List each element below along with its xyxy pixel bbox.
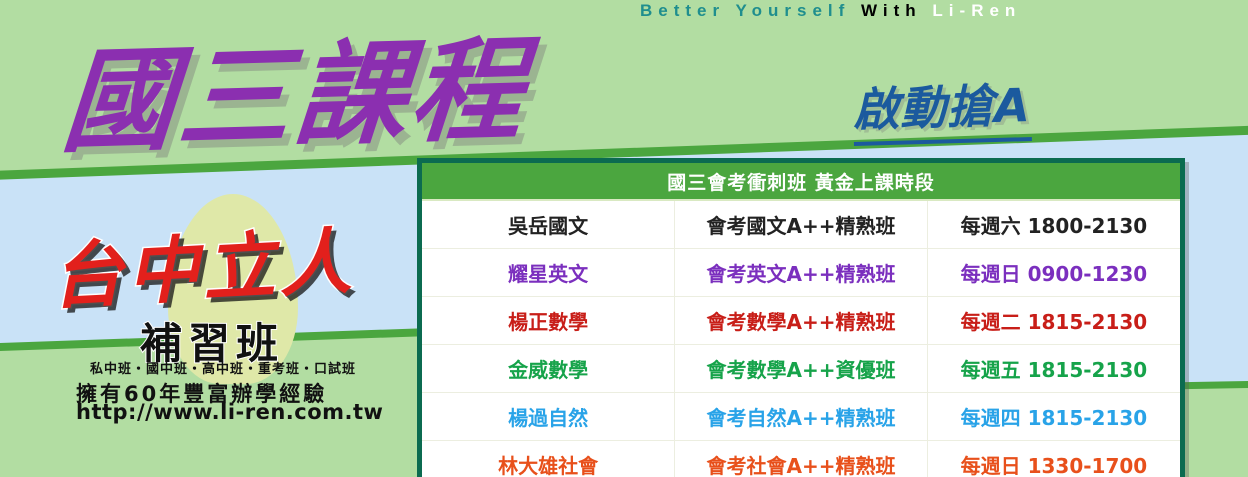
cell-teacher: 楊正數學 xyxy=(422,297,675,345)
logo-website-url: http://www.li-ren.com.tw xyxy=(76,400,383,424)
schedule-table-body: 吳岳國文會考國文A++精熟班每週六 1800-2130耀星英文會考英文A++精熟… xyxy=(422,200,1180,477)
table-row: 金威數學會考數學A++資優班每週五 1815-2130 xyxy=(422,345,1180,393)
cell-teacher: 金威數學 xyxy=(422,345,675,393)
page-subtitle: 啟動搶A xyxy=(852,69,1032,146)
promo-banner: Better Yourself With Li-Ren 國三課程 啟動搶A 台中… xyxy=(0,0,1248,477)
cell-course: 會考數學A++資優班 xyxy=(675,345,928,393)
table-row: 吳岳國文會考國文A++精熟班每週六 1800-2130 xyxy=(422,200,1180,249)
tagline-part2: With xyxy=(861,1,922,20)
cell-teacher: 楊過自然 xyxy=(422,393,675,441)
logo-brand-name: 台中立人 xyxy=(48,202,357,323)
tagline-part1: Better Yourself xyxy=(640,1,861,20)
table-row: 林大雄社會會考社會A++精熟班每週日 1330-1700 xyxy=(422,441,1180,477)
schedule-table-container: 國三會考衝刺班 黃金上課時段 吳岳國文會考國文A++精熟班每週六 1800-21… xyxy=(417,158,1185,477)
cell-course: 會考數學A++精熟班 xyxy=(675,297,928,345)
cell-time: 每週日 1330-1700 xyxy=(927,441,1180,477)
logo-class-types: 私中班・國中班・高中班・重考班・口試班 xyxy=(90,358,356,377)
cell-time: 每週二 1815-2130 xyxy=(927,297,1180,345)
schedule-table-title: 國三會考衝刺班 黃金上課時段 xyxy=(422,163,1180,200)
tagline-part3: Li-Ren xyxy=(922,1,1022,20)
cell-course: 會考社會A++精熟班 xyxy=(675,441,928,477)
cell-teacher: 耀星英文 xyxy=(422,249,675,297)
cell-teacher: 吳岳國文 xyxy=(422,200,675,249)
cell-teacher: 林大雄社會 xyxy=(422,441,675,477)
table-row: 楊過自然會考自然A++精熟班每週四 1815-2130 xyxy=(422,393,1180,441)
cell-time: 每週日 0900-1230 xyxy=(927,249,1180,297)
cell-time: 每週六 1800-2130 xyxy=(927,200,1180,249)
cell-time: 每週五 1815-2130 xyxy=(927,345,1180,393)
cell-course: 會考國文A++精熟班 xyxy=(675,200,928,249)
table-header-row: 國三會考衝刺班 黃金上課時段 xyxy=(422,163,1180,200)
table-row: 耀星英文會考英文A++精熟班每週日 0900-1230 xyxy=(422,249,1180,297)
cell-course: 會考自然A++精熟班 xyxy=(675,393,928,441)
cell-time: 每週四 1815-2130 xyxy=(927,393,1180,441)
schedule-table: 國三會考衝刺班 黃金上課時段 吳岳國文會考國文A++精熟班每週六 1800-21… xyxy=(422,163,1180,477)
tagline: Better Yourself With Li-Ren xyxy=(640,1,1021,21)
cell-course: 會考英文A++精熟班 xyxy=(675,249,928,297)
page-title: 國三課程 xyxy=(58,0,534,174)
table-row: 楊正數學會考數學A++精熟班每週二 1815-2130 xyxy=(422,297,1180,345)
